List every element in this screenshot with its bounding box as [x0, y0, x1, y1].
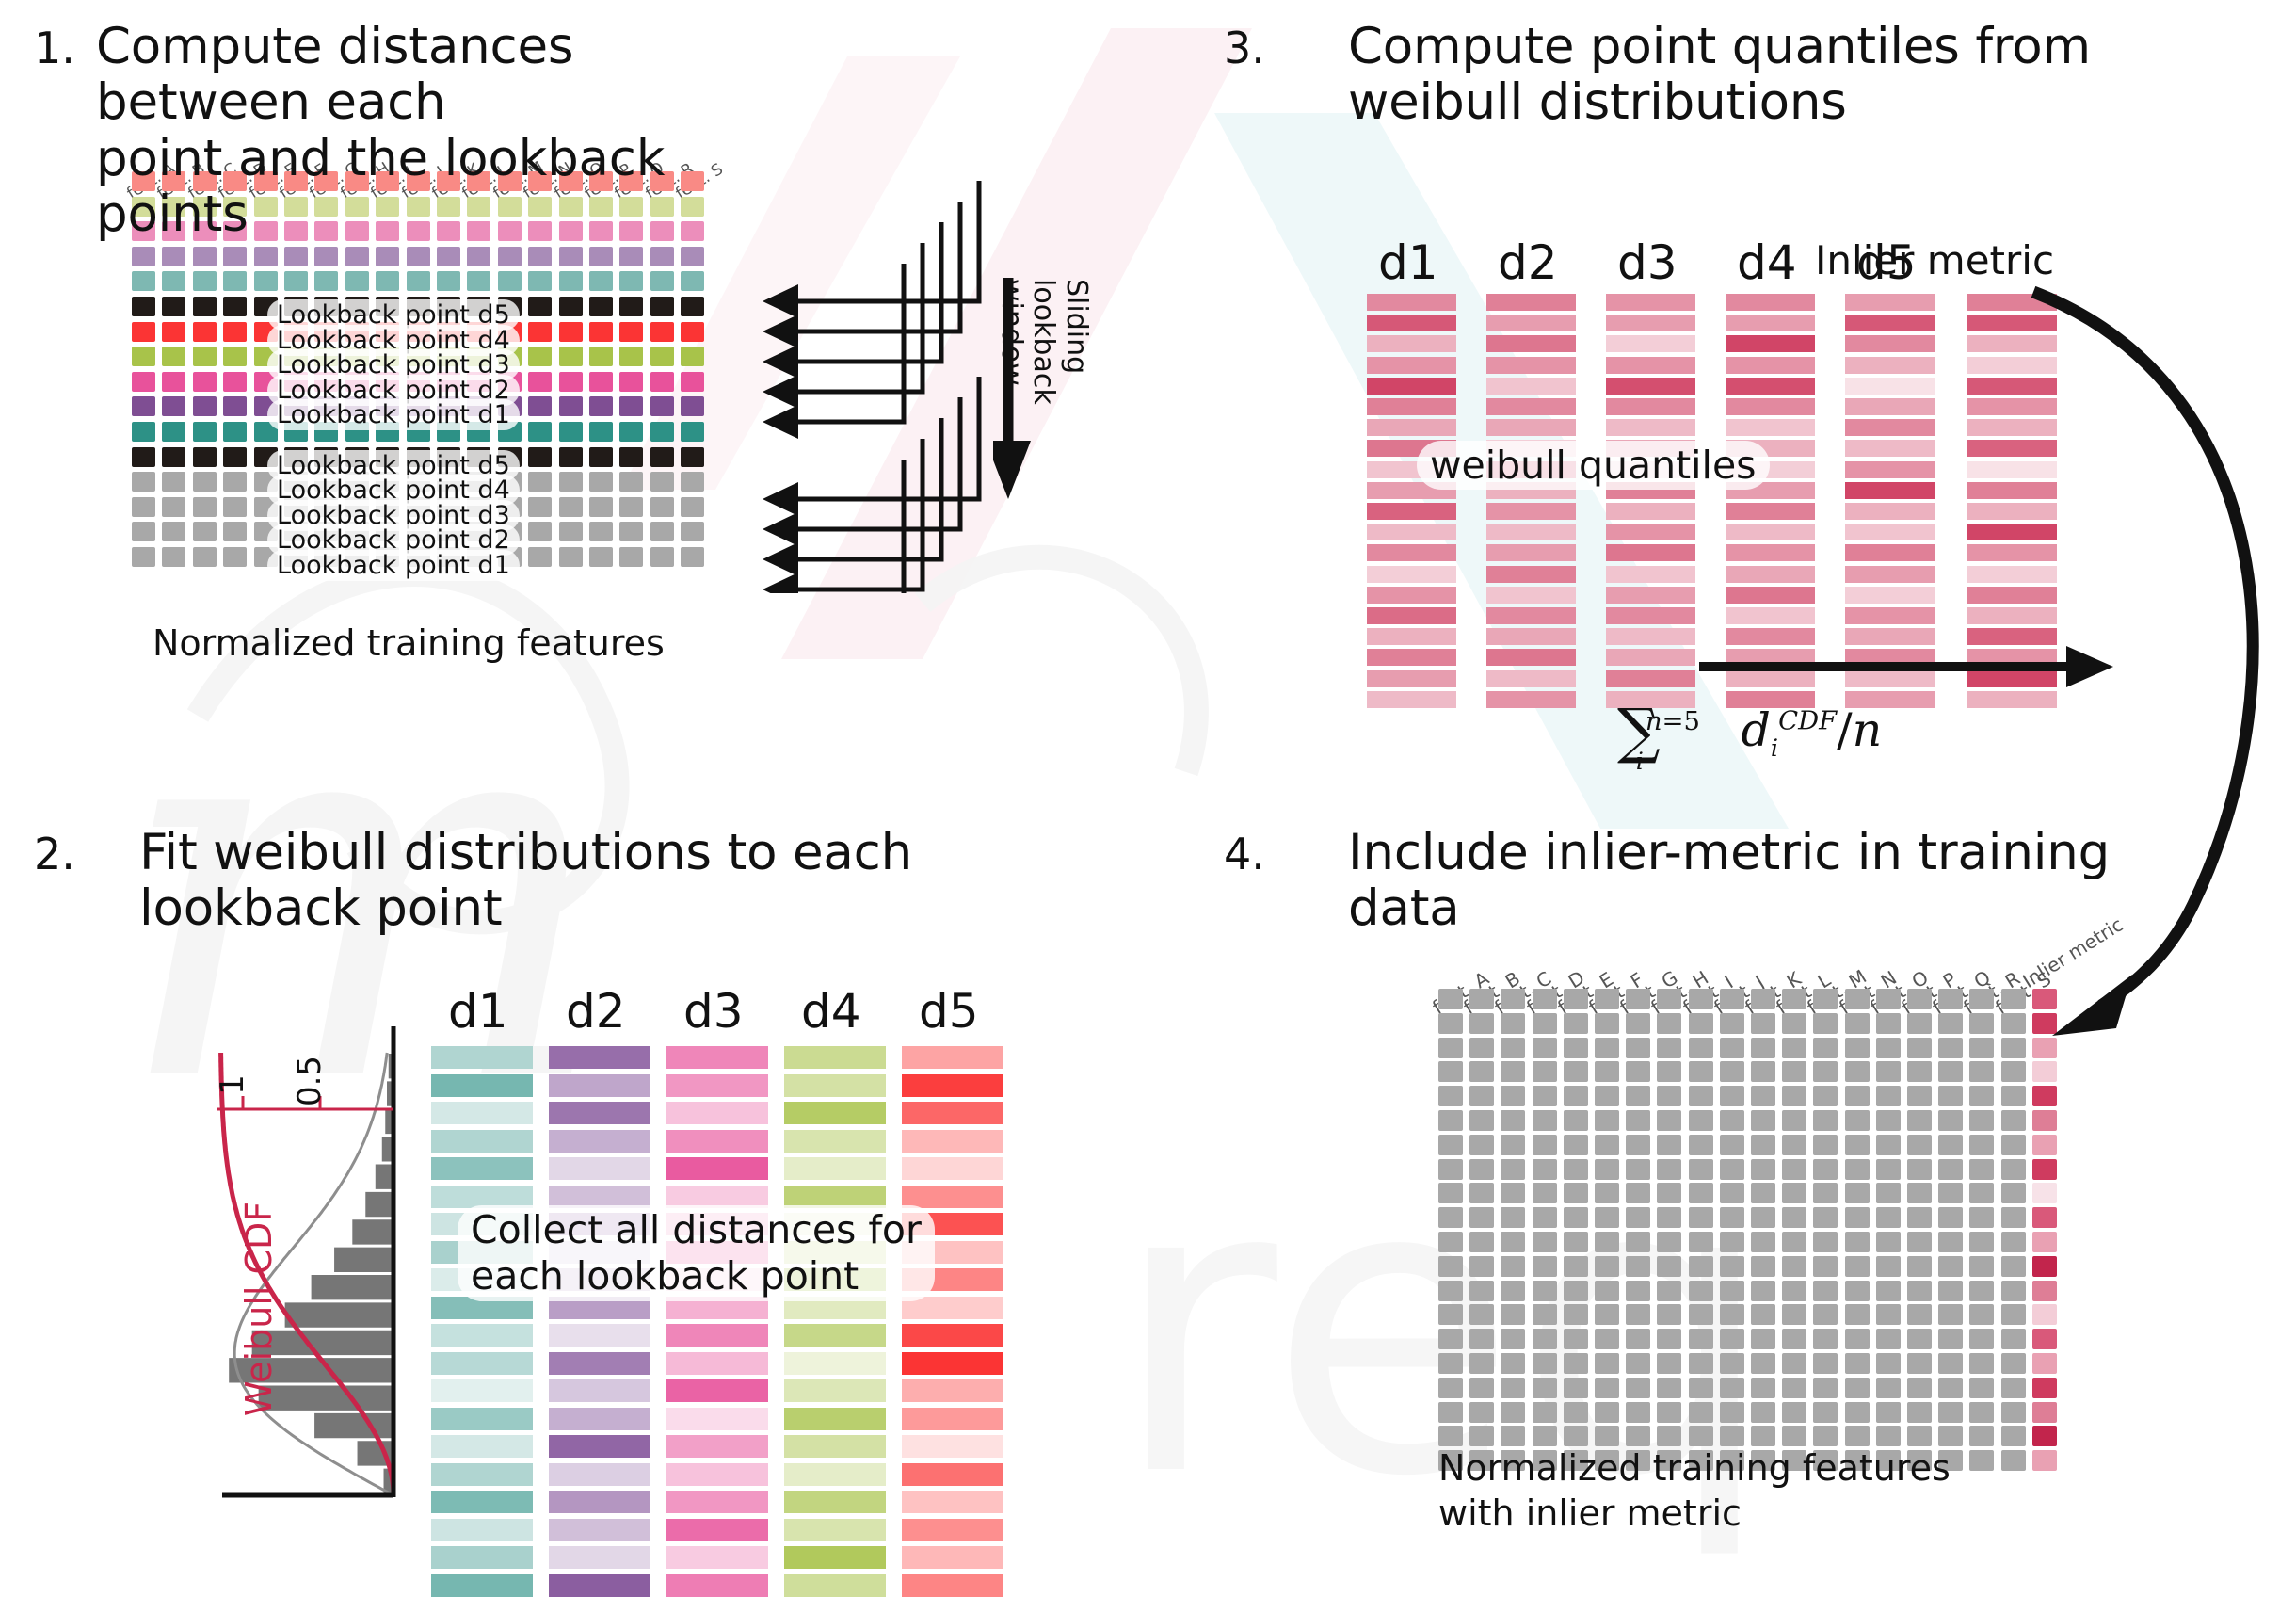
feature-cell: [1969, 1207, 1994, 1228]
distance-cell: [902, 1102, 1003, 1124]
feature-cell: [1876, 1013, 1901, 1034]
quantile-cell: [1845, 378, 1935, 395]
quantile-cell: [1845, 294, 1935, 311]
feature-cell: [1564, 1110, 1588, 1131]
quantile-cell: [1367, 357, 1456, 374]
feature-cell: [1907, 1232, 1932, 1252]
feature-cell: [1595, 989, 1619, 1009]
feature-cell: [1938, 1061, 1963, 1082]
feature-cell: [1938, 1353, 1963, 1374]
feature-cell: [681, 422, 704, 442]
feature-cell: [1969, 989, 1994, 1009]
feature-cell: [1845, 1329, 1870, 1349]
feature-cell: [1689, 1232, 1713, 1252]
distance-cell: [666, 1463, 768, 1486]
feature-cell: [559, 297, 583, 316]
quantile-cell: [1606, 357, 1695, 374]
feature-cell: [1533, 1329, 1557, 1349]
quantile-cell: [1845, 357, 1935, 374]
feature-cell: [1907, 1353, 1932, 1374]
feature-cell: [1438, 1329, 1463, 1349]
feature-cell: [1845, 1061, 1870, 1082]
distance-cell: [431, 1574, 533, 1597]
feature-cell: [1501, 1061, 1525, 1082]
feature-cell: [1438, 1353, 1463, 1374]
feature-cell: [1564, 1013, 1588, 1034]
feature-cell: [1469, 1159, 1494, 1180]
inlier-metric-cell: [2032, 1281, 2057, 1301]
feature-cell: [193, 547, 217, 567]
feature-cell: [1469, 1281, 1494, 1301]
feature-cell: [1938, 1110, 1963, 1131]
feature-cell: [1969, 1061, 1994, 1082]
quantile-cell: [1606, 524, 1695, 540]
feature-cell: [1689, 1207, 1713, 1228]
lookback-point-chip: Lookback point d1: [267, 399, 520, 430]
feature-cell: [2001, 1281, 2026, 1301]
feature-cell: [162, 422, 185, 442]
feature-cell: [1907, 1061, 1932, 1082]
feature-cell: [619, 322, 643, 342]
feature-cell: [1533, 1135, 1557, 1155]
feature-cell: [1907, 1378, 1932, 1398]
feature-cell: [1438, 1110, 1463, 1131]
feature-cell: [2001, 1086, 2026, 1106]
quantile-cell: [1726, 378, 1815, 395]
feature-cell: [1533, 1402, 1557, 1423]
feature-cell: [223, 472, 247, 492]
feature-cell: [1564, 1329, 1588, 1349]
distance-cell: [666, 1491, 768, 1513]
feature-cell: [1657, 989, 1681, 1009]
feature-cell: [193, 322, 217, 342]
feature-cell: [1907, 1159, 1932, 1180]
feature-cell: [1657, 1281, 1681, 1301]
lookback-point-chip: Lookback point d1: [267, 550, 520, 581]
distance-cell: [902, 1463, 1003, 1486]
quantile-cell: [1367, 398, 1456, 415]
feature-cell: [1626, 1159, 1650, 1180]
quantile-cell: [1726, 357, 1815, 374]
feature-cell: [1720, 1183, 1744, 1203]
quantile-cell: [1845, 566, 1935, 583]
feature-cell: [1438, 1135, 1463, 1155]
feature-cell: [650, 497, 674, 517]
feature-cell: [1751, 1086, 1775, 1106]
feature-cell: [1938, 1378, 1963, 1398]
panel3-inlier-metric-label: Inlier metric: [1815, 237, 2054, 283]
feature-cell: [1533, 1038, 1557, 1058]
feature-cell: [1969, 1135, 1994, 1155]
feature-cell: [528, 422, 552, 442]
feature-cell: [2001, 1378, 2026, 1398]
feature-cell: [467, 247, 490, 266]
feature-cell: [162, 297, 185, 316]
quantile-cell: [1606, 378, 1695, 395]
distance-cell: [902, 1157, 1003, 1180]
inlier-metric-cell: [2032, 1135, 2057, 1155]
quantile-cell: [1845, 419, 1935, 436]
feature-cell: [407, 271, 430, 291]
feature-cell: [1720, 1232, 1744, 1252]
feature-cell: [223, 347, 247, 366]
feature-cell: [1876, 1159, 1901, 1180]
feature-cell: [2001, 1450, 2026, 1471]
feature-cell: [1501, 1256, 1525, 1277]
quantile-cell: [1367, 335, 1456, 352]
feature-cell: [223, 297, 247, 316]
feature-cell: [162, 447, 185, 467]
feature-cell: [681, 497, 704, 517]
feature-cell: [132, 322, 155, 342]
feature-cell: [1595, 1207, 1619, 1228]
feature-cell: [619, 497, 643, 517]
feature-cell: [1689, 1086, 1713, 1106]
quantile-cell: [1726, 315, 1815, 331]
feature-cell: [589, 347, 613, 366]
feature-cell: [1813, 1378, 1838, 1398]
feature-cell: [1626, 1135, 1650, 1155]
quantile-cell: [1486, 566, 1576, 583]
feature-cell: [1813, 1207, 1838, 1228]
distance-cell: [549, 1324, 650, 1347]
feature-cell: [1626, 1086, 1650, 1106]
distance-cell: [666, 1102, 768, 1124]
feature-cell: [1876, 1281, 1901, 1301]
feature-cell: [1657, 1159, 1681, 1180]
feature-cell: [619, 422, 643, 442]
feature-cell: [1469, 1426, 1494, 1446]
quantile-cell: [1367, 419, 1456, 436]
feature-cell: [1501, 1232, 1525, 1252]
panel2-column-header: d2: [566, 984, 626, 1039]
feature-cell: [1813, 1329, 1838, 1349]
quantile-cell: [1367, 294, 1456, 311]
feature-cell: [1782, 1013, 1806, 1034]
feature-cell: [407, 247, 430, 266]
feature-cell: [467, 271, 490, 291]
feature-cell: [650, 522, 674, 541]
feature-cell: [1564, 1426, 1588, 1446]
feature-cell: [1689, 1378, 1713, 1398]
feature-cell: [528, 372, 552, 392]
feature-cell: [1720, 1207, 1744, 1228]
feature-cell: [1626, 1061, 1650, 1082]
quantile-cell: [1486, 357, 1576, 374]
feature-cell: [314, 271, 338, 291]
feature-cell: [2001, 1426, 2026, 1446]
feature-cell: [1626, 1110, 1650, 1131]
feature-cell: [1595, 1159, 1619, 1180]
feature-cell: [1938, 1038, 1963, 1058]
quantile-cell: [1606, 587, 1695, 604]
feature-cell: [1751, 989, 1775, 1009]
distance-cell: [431, 1352, 533, 1375]
feature-cell: [1720, 1110, 1744, 1131]
feature-cell: [1689, 1426, 1713, 1446]
quantile-cell: [1845, 587, 1935, 604]
quantile-cell: [1606, 607, 1695, 624]
quantile-cell: [1606, 544, 1695, 561]
distance-cell: [902, 1324, 1003, 1347]
weibull-cdf-label: Weibull CDF: [238, 1202, 280, 1416]
feature-cell: [2001, 1402, 2026, 1423]
feature-cell: [589, 547, 613, 567]
feature-cell: [132, 522, 155, 541]
feature-cell: [619, 271, 643, 291]
feature-cell: [1469, 1353, 1494, 1374]
feature-cell: [1876, 1402, 1901, 1423]
distance-cell: [902, 1046, 1003, 1069]
feature-cell: [1501, 1402, 1525, 1423]
feature-cell: [1907, 1207, 1932, 1228]
distance-cell: [666, 1074, 768, 1097]
panel3-column-header: d2: [1498, 235, 1558, 290]
feature-cell: [498, 247, 522, 266]
distance-cell: [902, 1352, 1003, 1375]
collect-distances-overlay: Collect all distances for each lookback …: [458, 1205, 935, 1301]
quantile-cell: [1486, 587, 1576, 604]
distance-cell: [431, 1435, 533, 1458]
distance-cell: [902, 1574, 1003, 1597]
quantile-cell: [1367, 566, 1456, 583]
feature-cell: [1501, 1183, 1525, 1203]
feature-cell: [1907, 1426, 1932, 1446]
feature-cell: [193, 472, 217, 492]
distance-cell: [784, 1157, 886, 1180]
feature-cell: [1438, 1304, 1463, 1325]
quantile-cell: [1845, 398, 1935, 415]
distance-cell: [902, 1408, 1003, 1430]
feature-cell: [1938, 1135, 1963, 1155]
feature-cell: [1689, 1183, 1713, 1203]
distance-cell: [784, 1102, 886, 1124]
quantile-cell: [1606, 503, 1695, 520]
feature-cell: [1845, 1159, 1870, 1180]
feature-cell: [1907, 1304, 1932, 1325]
feature-cell: [1595, 1353, 1619, 1374]
feature-cell: [1533, 1256, 1557, 1277]
feature-cell: [132, 396, 155, 416]
feature-cell: [1876, 1086, 1901, 1106]
feature-cell: [1720, 1378, 1744, 1398]
quantile-cell: [1726, 294, 1815, 311]
feature-cell: [1438, 1013, 1463, 1034]
feature-cell: [528, 472, 552, 492]
feature-cell: [1469, 1378, 1494, 1398]
distance-cell: [666, 1046, 768, 1069]
feature-cell: [528, 447, 552, 467]
feature-cell: [1533, 1353, 1557, 1374]
quantile-cell: [1845, 524, 1935, 540]
feature-cell: [1501, 1304, 1525, 1325]
feature-cell: [1938, 1207, 1963, 1228]
quantile-cell: [1726, 503, 1815, 520]
feature-cell: [1595, 1110, 1619, 1131]
weibull-cdf-chart: 1 0.5 Weibull CDF: [188, 1026, 471, 1516]
distance-cell: [549, 1546, 650, 1569]
feature-cell: [1595, 1402, 1619, 1423]
feature-cell: [1876, 1304, 1901, 1325]
feature-cell: [1782, 1183, 1806, 1203]
panel2-column-header: d3: [683, 984, 744, 1039]
feature-cell: [1438, 1256, 1463, 1277]
quantile-cell: [1726, 607, 1815, 624]
feature-cell: [132, 347, 155, 366]
quantile-cell: [1367, 607, 1456, 624]
feature-cell: [498, 271, 522, 291]
distance-cell: [902, 1435, 1003, 1458]
feature-cell: [559, 347, 583, 366]
feature-cell: [1438, 1038, 1463, 1058]
feature-cell: [1564, 1183, 1588, 1203]
feature-cell: [437, 271, 460, 291]
distance-cell: [549, 1574, 650, 1597]
feature-cell: [1564, 1353, 1588, 1374]
feature-cell: [1657, 1232, 1681, 1252]
feature-cell: [284, 271, 308, 291]
feature-cell: [559, 522, 583, 541]
feature-cell: [223, 271, 247, 291]
quantile-cell: [1845, 503, 1935, 520]
feature-cell: [1720, 1304, 1744, 1325]
feature-cell: [1689, 1135, 1713, 1155]
feature-cell: [681, 347, 704, 366]
inlier-metric-cell: [2032, 1304, 2057, 1325]
feature-cell: [2001, 1061, 2026, 1082]
feature-cell: [589, 247, 613, 266]
feature-cell: [1626, 1281, 1650, 1301]
feature-cell: [1501, 1207, 1525, 1228]
feature-cell: [1845, 1207, 1870, 1228]
feature-cell: [1782, 1281, 1806, 1301]
feature-cell: [1595, 1135, 1619, 1155]
feature-cell: [619, 447, 643, 467]
feature-cell: [1533, 1183, 1557, 1203]
feature-cell: [132, 372, 155, 392]
distance-cell: [784, 1352, 886, 1375]
feature-cell: [650, 422, 674, 442]
inlier-metric-cell: [2032, 1256, 2057, 1277]
feature-cell: [1469, 1256, 1494, 1277]
feature-cell: [1782, 1086, 1806, 1106]
feature-cell: [1533, 1304, 1557, 1325]
distance-cell: [431, 1519, 533, 1541]
quantile-cell: [1367, 503, 1456, 520]
feature-cell: [1751, 1110, 1775, 1131]
feature-cell: [1564, 1135, 1588, 1155]
feature-cell: [1720, 1281, 1744, 1301]
feature-cell: [1782, 989, 1806, 1009]
distance-cell: [902, 1074, 1003, 1097]
feature-cell: [1438, 1086, 1463, 1106]
panel3-column-header: d4: [1737, 235, 1797, 290]
feature-cell: [1751, 1304, 1775, 1325]
feature-cell: [132, 247, 155, 266]
feature-cell: [559, 422, 583, 442]
feature-cell: [1907, 1110, 1932, 1131]
feature-cell: [1720, 1061, 1744, 1082]
feature-cell: [559, 372, 583, 392]
quantile-cell: [1486, 670, 1576, 687]
feature-cell: [1564, 989, 1588, 1009]
feature-cell: [132, 297, 155, 316]
quantile-cell: [1367, 315, 1456, 331]
feature-cell: [589, 322, 613, 342]
feature-cell: [1876, 1038, 1901, 1058]
feature-cell: [1813, 1135, 1838, 1155]
feature-cell: [1469, 1135, 1494, 1155]
inlier-metric-cell: [2032, 1329, 2057, 1349]
distance-cell: [431, 1324, 533, 1347]
feature-cell: [1969, 1402, 1994, 1423]
feature-cell: [1782, 1135, 1806, 1155]
feature-cell: [1564, 1207, 1588, 1228]
distance-cell: [666, 1546, 768, 1569]
distance-cell: [784, 1519, 886, 1541]
feature-cell: [1689, 1256, 1713, 1277]
distance-cell: [666, 1352, 768, 1375]
feature-cell: [1813, 1353, 1838, 1374]
quantile-cell: [1845, 544, 1935, 561]
feature-cell: [193, 347, 217, 366]
feature-cell: [1907, 1086, 1932, 1106]
feature-cell: [1845, 1038, 1870, 1058]
feature-cell: [1751, 1426, 1775, 1446]
distance-cell: [666, 1519, 768, 1541]
feature-cell: [650, 322, 674, 342]
feature-cell: [589, 447, 613, 467]
feature-cell: [132, 422, 155, 442]
feature-cell: [650, 396, 674, 416]
feature-cell: [528, 247, 552, 266]
feature-cell: [681, 522, 704, 541]
quantile-cell: [1606, 566, 1695, 583]
feature-cell: [1813, 1061, 1838, 1082]
feature-cell: [1938, 1013, 1963, 1034]
feature-cell: [1782, 1038, 1806, 1058]
feature-cell: [1469, 1013, 1494, 1034]
feature-cell: [2001, 1256, 2026, 1277]
feature-cell: [1782, 1159, 1806, 1180]
inlier-metric-cell: [2032, 1232, 2057, 1252]
feature-cell: [1657, 1183, 1681, 1203]
feature-cell: [1438, 1232, 1463, 1252]
inlier-metric-cell: [2032, 1402, 2057, 1423]
feature-cell: [1845, 1110, 1870, 1131]
feature-cell: [1813, 1256, 1838, 1277]
panel1-caption: Normalized training features: [153, 621, 665, 667]
feature-cell: [1564, 1159, 1588, 1180]
feature-cell: [1845, 1135, 1870, 1155]
distance-cell: [784, 1130, 886, 1153]
feature-cell: [619, 297, 643, 316]
distance-cell: [549, 1463, 650, 1486]
feature-cell: [1438, 1426, 1463, 1446]
feature-cell: [528, 322, 552, 342]
feature-cell: [1501, 989, 1525, 1009]
feature-cell: [1533, 1207, 1557, 1228]
feature-cell: [254, 247, 278, 266]
feature-cell: [1533, 1232, 1557, 1252]
feature-cell: [2001, 1110, 2026, 1131]
feature-cell: [223, 422, 247, 442]
feature-cell: [1438, 1183, 1463, 1203]
quantile-cell: [1845, 482, 1935, 499]
distance-cell: [431, 1157, 533, 1180]
feature-cell: [345, 271, 369, 291]
quantile-cell: [1367, 524, 1456, 540]
